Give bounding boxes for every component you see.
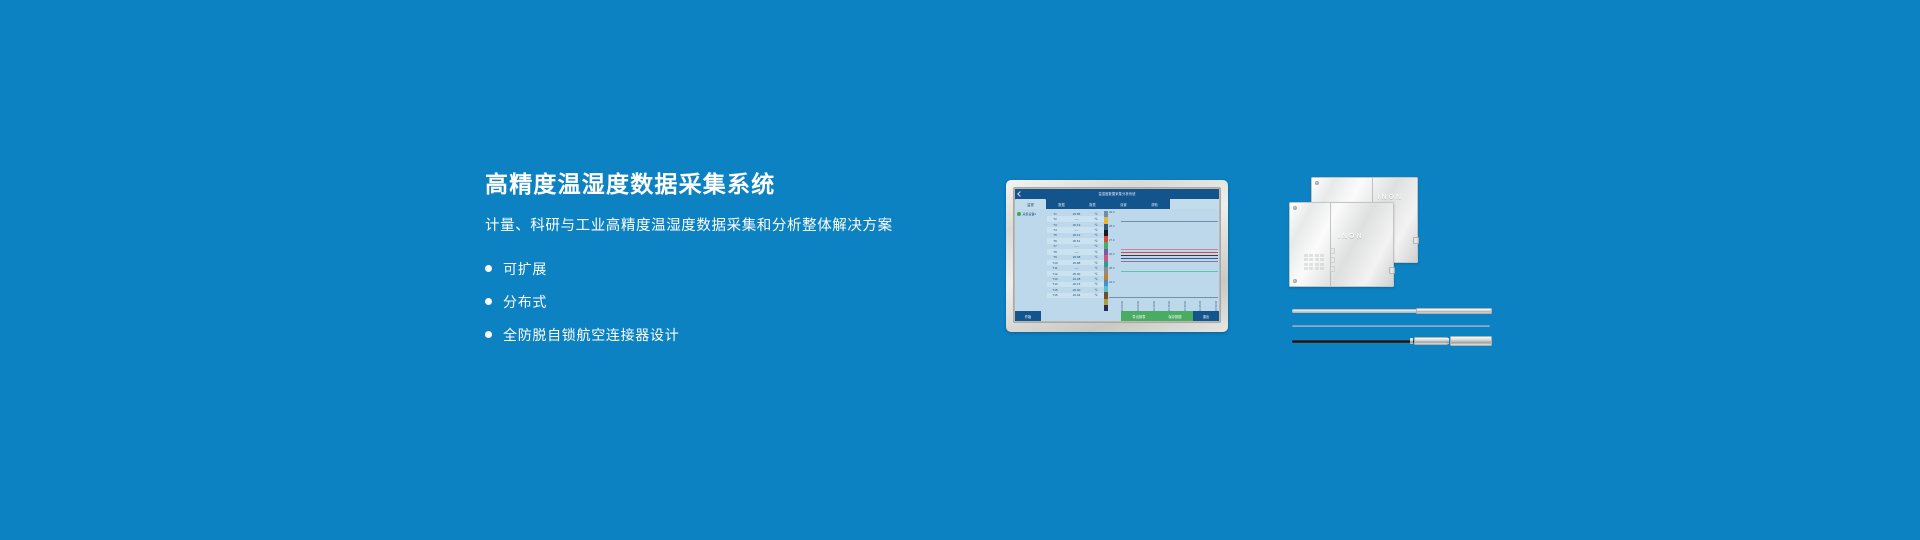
probe-wire xyxy=(1292,325,1490,327)
cell-channel: T12 xyxy=(1047,272,1063,276)
cell-value: 26.28 xyxy=(1063,277,1090,281)
app-body: 采集设备1 T125.85℃ T2----℃ T326.19℃ T4----℃ … xyxy=(1015,209,1219,311)
table-row: T1026.88℃ xyxy=(1047,260,1104,265)
table-row: T1225.90℃ xyxy=(1047,271,1104,276)
start-button[interactable]: 开始 xyxy=(1015,311,1041,321)
status-online-icon xyxy=(1017,212,1021,216)
y-axis-tick: 24.0 xyxy=(1109,280,1114,284)
brand-logo-back: INON xyxy=(1378,194,1404,201)
bullet-dot-icon xyxy=(485,298,492,305)
cell-value: 26.88 xyxy=(1063,261,1090,265)
tablet-screen: 温湿度数据采集分析系统 监视 数据 报表 设置 帮助 采集设备1 T1 xyxy=(1015,189,1219,321)
tabbar-filler xyxy=(1170,199,1219,209)
tab-help[interactable]: 帮助 xyxy=(1139,199,1170,209)
cell-channel: T11 xyxy=(1047,266,1063,270)
cell-value: 26.61 xyxy=(1063,239,1090,243)
terminal-cell xyxy=(1309,263,1313,266)
x-axis-tick: 10:05:00 xyxy=(1137,298,1140,311)
series-line xyxy=(1121,271,1218,272)
terminal-cell xyxy=(1304,263,1308,266)
series-line xyxy=(1121,249,1218,250)
cell-value: 25.90 xyxy=(1063,272,1090,276)
panel-seam xyxy=(1330,203,1331,286)
device-tree-panel: 采集设备1 xyxy=(1015,209,1047,311)
terminal-cell xyxy=(1304,258,1308,261)
x-axis-tick: 10:25:00 xyxy=(1199,298,1202,311)
tab-settings[interactable]: 设置 xyxy=(1108,199,1139,209)
feature-label: 全防脱自锁航空连接器设计 xyxy=(503,326,679,344)
table-row: T626.61℃ xyxy=(1047,238,1104,243)
bullet-dot-icon xyxy=(485,331,492,338)
table-row: T11----℃ xyxy=(1047,265,1104,270)
cell-value: 26.90 xyxy=(1063,288,1090,292)
terminal-cell xyxy=(1315,258,1319,261)
export-report-button[interactable]: 导出报表 xyxy=(1121,311,1157,321)
feature-label: 可扩展 xyxy=(503,260,547,278)
connector-slot-icon xyxy=(1330,248,1335,254)
table-row: T1626.94℃ xyxy=(1047,293,1104,298)
brand-logo-front: INON xyxy=(1338,233,1364,240)
terminal-cell xyxy=(1320,267,1324,270)
terminal-cell xyxy=(1304,267,1308,270)
exit-button[interactable]: 退出 xyxy=(1193,311,1219,321)
screw-icon xyxy=(1293,279,1297,283)
table-row: T7----℃ xyxy=(1047,244,1104,249)
channel-table: T125.85℃ T2----℃ T326.19℃ T4----℃ T526.1… xyxy=(1047,209,1104,311)
terminal-cell xyxy=(1320,258,1324,261)
cell-unit: ℃ xyxy=(1090,272,1102,276)
table-row: T326.19℃ xyxy=(1047,222,1104,227)
device-tree-item[interactable]: 采集设备1 xyxy=(1017,212,1045,216)
hero-banner: 高精度温湿度数据采集系统 计量、科研与工业高精度温湿度数据采集和分析整体解决方案… xyxy=(0,0,1920,540)
save-data-button[interactable]: 保存数据 xyxy=(1157,311,1193,321)
connector-column xyxy=(1330,248,1335,272)
y-axis-tick: 26.0 xyxy=(1109,252,1114,256)
terminal-cell xyxy=(1309,254,1313,257)
cell-channel: T8 xyxy=(1047,250,1063,254)
probe-tip xyxy=(1416,308,1492,314)
cell-value: 26.12 xyxy=(1063,233,1090,237)
series-line xyxy=(1121,221,1218,222)
terminal-cell xyxy=(1315,263,1319,266)
cell-channel: T5 xyxy=(1047,233,1063,237)
cell-channel: T6 xyxy=(1047,239,1063,243)
cell-channel: T14 xyxy=(1047,282,1063,286)
connector-shell xyxy=(1450,336,1492,346)
x-axis-tick: 10:15:00 xyxy=(1168,298,1171,311)
cell-unit: ℃ xyxy=(1090,250,1102,254)
tab-report[interactable]: 报表 xyxy=(1077,199,1108,209)
bullet-dot-icon xyxy=(485,265,492,272)
cell-value: 26.94 xyxy=(1063,293,1090,297)
cell-channel: T13 xyxy=(1047,277,1063,281)
connector-slot-icon xyxy=(1330,266,1335,272)
product-photo-panel-pc: 温湿度数据采集分析系统 监视 数据 报表 设置 帮助 采集设备1 T1 xyxy=(1006,180,1228,332)
cell-value: 26.19 xyxy=(1063,223,1090,227)
table-row: T926.98℃ xyxy=(1047,255,1104,260)
tab-monitor[interactable]: 监视 xyxy=(1015,199,1046,209)
terminal-cell xyxy=(1320,263,1324,266)
cell-channel: T10 xyxy=(1047,261,1063,265)
x-axis-tick: 10:20:00 xyxy=(1184,298,1187,311)
product-photo-aviation-connector-cable xyxy=(1292,336,1490,348)
cell-channel: T16 xyxy=(1047,293,1063,297)
terminal-cell xyxy=(1309,267,1313,270)
series-line xyxy=(1121,258,1218,259)
series-line xyxy=(1121,252,1218,253)
cell-unit: ℃ xyxy=(1090,277,1102,281)
strain-relief-ring xyxy=(1410,338,1413,344)
probe-shaft xyxy=(1292,309,1420,313)
table-row: T4----℃ xyxy=(1047,227,1104,232)
cell-unit: ℃ xyxy=(1090,217,1102,221)
hero-text-block: 高精度温湿度数据采集系统 计量、科研与工业高精度温湿度数据采集和分析整体解决方案… xyxy=(485,170,955,351)
cell-channel: T4 xyxy=(1047,228,1063,232)
x-axis-tick: 10:30:00 xyxy=(1215,298,1218,311)
table-row: T125.85℃ xyxy=(1047,211,1104,216)
x-axis-ticks: 10:00:00 10:05:00 10:10:00 10:15:00 10:2… xyxy=(1121,298,1218,311)
app-titlebar: 温湿度数据采集分析系统 xyxy=(1015,189,1219,198)
cell-value: 26.98 xyxy=(1063,255,1090,259)
cell-channel: T1 xyxy=(1047,212,1063,216)
cell-value: 25.85 xyxy=(1063,212,1090,216)
cell-channel: T15 xyxy=(1047,288,1063,292)
cable-jacket xyxy=(1292,340,1414,343)
cell-channel: T3 xyxy=(1047,223,1063,227)
list-item: 全防脱自锁航空连接器设计 xyxy=(485,318,955,351)
table-row: T526.12℃ xyxy=(1047,233,1104,238)
cell-value: ---- xyxy=(1063,244,1090,248)
device-tree-label: 采集设备1 xyxy=(1023,212,1037,216)
cell-unit: ℃ xyxy=(1090,293,1102,297)
series-line xyxy=(1121,255,1218,256)
cell-value: ---- xyxy=(1063,250,1090,254)
cell-channel: T7 xyxy=(1047,244,1063,248)
trend-chart: 29.0 28.0 27.0 26.0 25.0 24.0 10:00:0 xyxy=(1108,209,1219,311)
table-row: T1526.90℃ xyxy=(1047,287,1104,292)
y-axis-tick: 29.0 xyxy=(1109,210,1114,214)
feature-label: 分布式 xyxy=(503,293,547,311)
screw-icon xyxy=(1293,206,1297,210)
y-axis-tick: 28.0 xyxy=(1109,224,1114,228)
x-axis-tick: 10:10:00 xyxy=(1153,298,1156,311)
series-line xyxy=(1121,261,1218,262)
cell-value: ---- xyxy=(1063,228,1090,232)
product-photo-probe-temperature xyxy=(1292,307,1490,315)
cell-unit: ℃ xyxy=(1090,212,1102,216)
cell-unit: ℃ xyxy=(1090,233,1102,237)
cell-channel: T2 xyxy=(1047,217,1063,221)
cell-channel: T9 xyxy=(1047,255,1063,259)
app-footer: 开始 导出报表 保存数据 退出 xyxy=(1015,311,1219,321)
footer-spacer xyxy=(1041,311,1121,321)
terminal-cell xyxy=(1315,254,1319,257)
terminal-label-grid xyxy=(1304,254,1324,270)
cell-unit: ℃ xyxy=(1090,282,1102,286)
terminal-cell xyxy=(1309,258,1313,261)
table-row: T1426.15℃ xyxy=(1047,282,1104,287)
connector-port-icon xyxy=(1413,237,1419,244)
list-item: 可扩展 xyxy=(485,252,955,285)
tab-data[interactable]: 数据 xyxy=(1046,199,1077,209)
app-window-title: 温湿度数据采集分析系统 xyxy=(1015,191,1219,196)
cell-unit: ℃ xyxy=(1090,239,1102,243)
cell-unit: ℃ xyxy=(1090,261,1102,265)
page-subtitle: 计量、科研与工业高精度温湿度数据采集和分析整体解决方案 xyxy=(485,216,955,236)
y-axis-tick: 27.0 xyxy=(1109,238,1114,242)
terminal-cell xyxy=(1320,254,1324,257)
cell-value: ---- xyxy=(1063,266,1090,270)
table-row: T8----℃ xyxy=(1047,249,1104,254)
x-axis-tick: 10:00:00 xyxy=(1121,298,1124,311)
cell-value: ---- xyxy=(1063,217,1090,221)
table-row: T2----℃ xyxy=(1047,216,1104,221)
cell-unit: ℃ xyxy=(1090,266,1102,270)
product-photo-probe-humidity xyxy=(1292,323,1490,329)
locking-ring xyxy=(1446,338,1449,344)
cell-unit: ℃ xyxy=(1090,255,1102,259)
product-photo-module-front: INON xyxy=(1289,202,1394,287)
app-tabbar: 监视 数据 报表 设置 帮助 xyxy=(1015,198,1219,209)
table-row: T1326.28℃ xyxy=(1047,276,1104,281)
connector-slot-icon xyxy=(1330,257,1335,263)
cell-unit: ℃ xyxy=(1090,228,1102,232)
connector-barrel xyxy=(1414,337,1448,345)
connector-port-icon xyxy=(1389,267,1395,274)
feature-list: 可扩展 分布式 全防脱自锁航空连接器设计 xyxy=(485,252,955,351)
list-item: 分布式 xyxy=(485,285,955,318)
y-axis-tick: 25.0 xyxy=(1109,266,1114,270)
page-title: 高精度温湿度数据采集系统 xyxy=(485,170,955,198)
cell-value: 26.15 xyxy=(1063,282,1090,286)
cell-unit: ℃ xyxy=(1090,223,1102,227)
terminal-cell xyxy=(1304,254,1308,257)
cell-unit: ℃ xyxy=(1090,288,1102,292)
terminal-cell xyxy=(1315,267,1319,270)
cell-unit: ℃ xyxy=(1090,244,1102,248)
screw-icon xyxy=(1315,181,1319,185)
